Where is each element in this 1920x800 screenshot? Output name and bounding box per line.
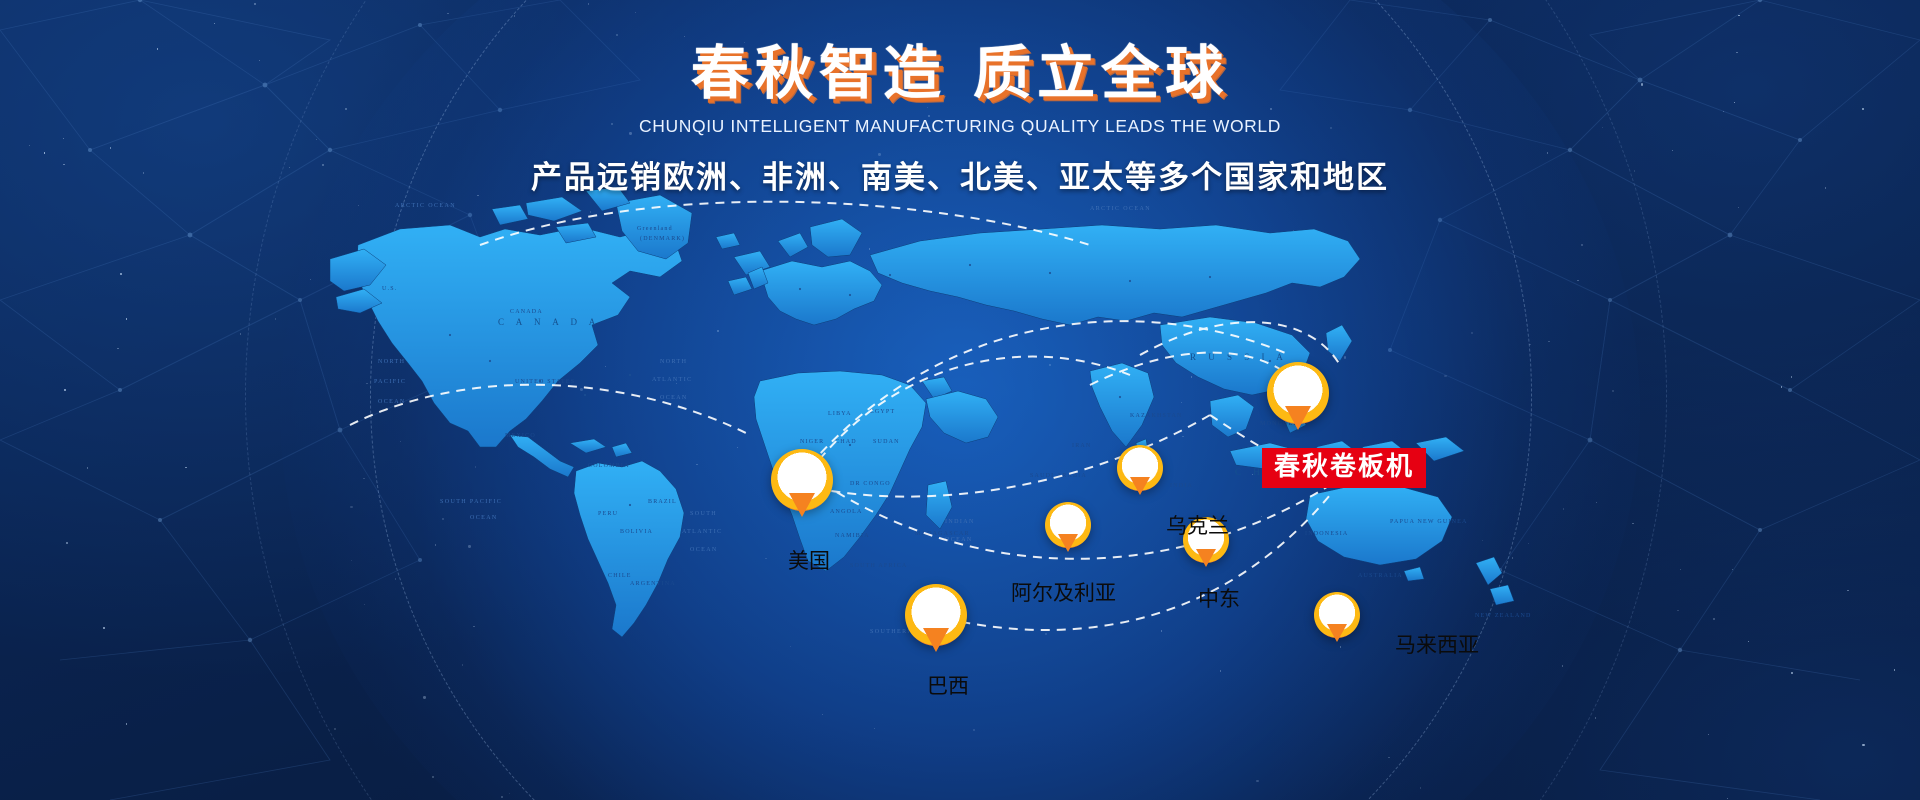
map-text-label: MADAGASCAR xyxy=(915,531,970,537)
star-dot xyxy=(1420,787,1421,788)
star-dot xyxy=(501,796,502,797)
star-dot xyxy=(973,729,975,731)
map-text-label: SOUTH xyxy=(690,511,717,517)
map-text-label: U.S. xyxy=(382,286,397,292)
location-pin-icon xyxy=(1045,502,1091,548)
map-text-label: Greenland xyxy=(637,226,673,232)
map-text-label: BOLIVIA xyxy=(620,529,653,535)
star-dot xyxy=(1708,734,1709,735)
star-dot xyxy=(616,34,618,36)
star-dot xyxy=(240,333,241,334)
map-text-label: NIGER xyxy=(800,439,824,445)
map-text-label: NAMIBIA xyxy=(835,533,870,539)
map-text-label: NORTH xyxy=(660,359,687,365)
map-text-label: BRAZIL xyxy=(648,499,677,505)
star-dot xyxy=(334,728,335,729)
map-text-label: INDIA xyxy=(1170,483,1193,489)
map-text-label: CHAD xyxy=(835,439,857,445)
star-dot xyxy=(1781,386,1782,387)
star-dot xyxy=(103,627,105,629)
location-pin-icon xyxy=(905,584,967,646)
star-dot xyxy=(588,3,589,4)
map-text-label: UNITED STATES xyxy=(515,379,575,385)
map-text-label: ARGENTINA xyxy=(630,581,676,587)
star-dot xyxy=(684,36,685,37)
location-pin-icon xyxy=(1314,592,1360,638)
map-text-label: COLOMBIA xyxy=(588,463,630,469)
star-dot xyxy=(822,714,823,715)
map-text-label: PACIFIC xyxy=(374,379,406,385)
star-dot xyxy=(635,12,636,13)
star-dot xyxy=(1732,569,1733,570)
map-text-label: OCEAN xyxy=(690,547,718,553)
star-dot xyxy=(514,15,515,16)
map-text-label: SOUTH PACIFIC xyxy=(440,499,502,505)
star-dot xyxy=(310,279,311,280)
map-text-label: CHILE xyxy=(608,573,632,579)
map-marker-malaysia[interactable] xyxy=(1314,592,1360,638)
star-dot xyxy=(1612,390,1613,391)
map-text-label: PERU xyxy=(598,511,618,517)
star-dot xyxy=(1256,780,1258,782)
map-marker-russia[interactable] xyxy=(1267,362,1329,424)
map-marker-usa[interactable] xyxy=(771,449,833,511)
star-dot xyxy=(1862,744,1864,746)
star-dot xyxy=(1738,15,1739,16)
star-dot xyxy=(1738,207,1739,208)
star-dot xyxy=(1748,641,1749,642)
map-marker-label-algeria: 阿尔及利亚 xyxy=(1011,577,1116,607)
star-dot xyxy=(66,542,68,544)
page-title-english: CHUNQIU INTELLIGENT MANUFACTURING QUALIT… xyxy=(0,116,1920,137)
star-dot xyxy=(214,23,215,24)
map-marker-label-malaysia: 马来西亚 xyxy=(1395,629,1479,659)
star-dot xyxy=(1562,665,1563,666)
map-text-label: KAZAKHSTAN xyxy=(1130,413,1183,419)
star-dot xyxy=(254,3,255,4)
map-text-label: EGYPT xyxy=(870,409,895,415)
star-dot xyxy=(117,348,118,349)
map-marker-label-mideast: 中东 xyxy=(1198,583,1240,613)
map-marker-algeria[interactable] xyxy=(1045,502,1091,548)
star-dot xyxy=(874,728,875,729)
map-text-label: NEW ZEALAND xyxy=(1475,613,1532,619)
location-pin-icon xyxy=(1117,445,1163,491)
star-dot xyxy=(1791,376,1792,377)
map-text-label: SOUTH AFRICA xyxy=(850,563,908,569)
star-dot xyxy=(1680,569,1681,570)
map-marker-label-ukraine: 乌克兰 xyxy=(1166,510,1229,540)
star-dot xyxy=(1727,798,1728,799)
map-marker-label-usa: 美国 xyxy=(788,545,830,575)
page-title: 春秋智造 质立全球 xyxy=(0,44,1920,102)
map-text-label: LIBYA xyxy=(828,411,852,417)
star-dot xyxy=(64,389,65,390)
map-text-label: ATLANTIC xyxy=(682,529,723,535)
star-dot xyxy=(185,467,186,468)
map-text-label: PAPUA NEW GUINEA xyxy=(1390,519,1468,525)
map-text-label: ARCTIC OCEAN xyxy=(1090,206,1151,212)
star-dot xyxy=(447,13,448,14)
star-dot xyxy=(509,793,510,794)
map-text-label: MEXICO xyxy=(505,433,536,439)
page-subtitle: 产品远销欧洲、非洲、南美、北美、亚太等多个国家和地区 xyxy=(0,152,1920,197)
map-text-label: R U S S I A xyxy=(1190,352,1288,362)
map-marker-ukraine[interactable] xyxy=(1117,445,1163,491)
map-text-label: (DENMARK) xyxy=(640,235,685,242)
map-text-label: ATLANTIC xyxy=(652,377,693,383)
location-pin-icon xyxy=(1267,362,1329,424)
map-text-label: OCEAN xyxy=(945,537,973,543)
star-dot xyxy=(1847,590,1848,591)
hero-banner: 春秋智造 质立全球 CHUNQIU INTELLIGENT MANUFACTUR… xyxy=(0,0,1920,800)
map-text-label: SUDAN xyxy=(873,439,900,445)
star-dot xyxy=(1595,717,1596,718)
star-dot xyxy=(126,723,127,724)
map-text-label: AUSTRALIA xyxy=(1358,573,1403,579)
map-text-label: C A N A D A xyxy=(498,317,600,327)
map-text-label: ARCTIC OCEAN xyxy=(395,203,456,209)
map-text-label: OCEAN xyxy=(660,395,688,401)
map-text-label: IRAN xyxy=(1072,443,1091,449)
headline-block: 春秋智造 质立全球 CHUNQIU INTELLIGENT MANUFACTUR… xyxy=(0,44,1920,197)
map-text-label: OCEAN xyxy=(470,515,498,521)
brand-badge[interactable]: 春秋卷板机 xyxy=(1262,448,1426,488)
map-text-label: INDIAN xyxy=(945,519,975,525)
star-dot xyxy=(120,273,122,275)
landmasses xyxy=(330,187,1514,637)
star-dot xyxy=(1388,757,1389,758)
star-dot xyxy=(1791,672,1793,674)
map-marker-label-brazil: 巴西 xyxy=(927,670,969,700)
star-dot xyxy=(423,696,425,698)
map-text-label: INDONESIA xyxy=(1305,531,1348,537)
location-pin-icon xyxy=(771,449,833,511)
star-dot xyxy=(1894,669,1895,670)
star-dot xyxy=(1677,610,1678,611)
star-dot xyxy=(126,318,127,319)
map-text-label: OCEAN xyxy=(378,399,406,405)
star-dot xyxy=(462,664,463,665)
map-text-label: NORTH xyxy=(378,359,405,365)
star-dot xyxy=(1220,670,1221,671)
star-dot xyxy=(1632,523,1633,524)
map-marker-brazil[interactable] xyxy=(905,584,967,646)
map-text-label: ANGOLA xyxy=(830,509,863,515)
map-text-label: SAUDI ARABIA xyxy=(1030,473,1087,479)
map-text-label: DR CONGO xyxy=(850,481,891,487)
star-dot xyxy=(87,467,88,468)
star-dot xyxy=(1713,618,1715,620)
map-text-label: CANADA xyxy=(510,309,543,315)
star-dot xyxy=(275,318,276,319)
star-dot xyxy=(432,776,433,777)
